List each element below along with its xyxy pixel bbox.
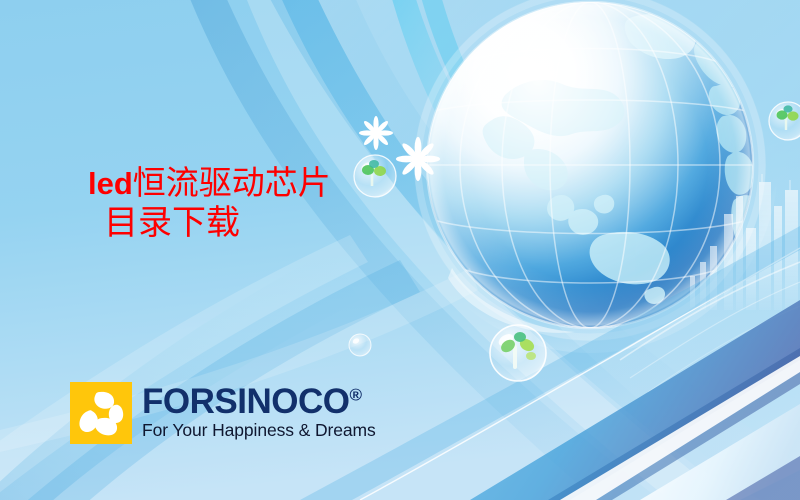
brand-tagline: For Your Happiness & Dreams: [142, 420, 376, 441]
brand-logo: FORSINOCO® For Your Happiness & Dreams: [70, 382, 376, 444]
wordmark-text: FORSINOCO: [142, 382, 349, 421]
small-bubble: [349, 334, 371, 356]
wordmark: FORSINOCO®: [142, 385, 376, 419]
bubble-with-green-globe-left: [354, 155, 396, 197]
headline-line-1: led恒流驱动芯片: [88, 164, 331, 203]
headline-line-2: 目录下载: [88, 203, 331, 243]
page-title: led恒流驱动芯片 目录下载: [88, 164, 331, 243]
headline-cjk-part: 恒流驱动芯片: [133, 163, 331, 202]
registered-trademark-icon: ®: [349, 386, 362, 405]
four-petal-pinwheel-icon: [70, 382, 132, 444]
headline-latin-prefix: led: [88, 166, 133, 201]
bubble-with-green-globe-right: [769, 102, 800, 140]
banner-image: led恒流驱动芯片 目录下载 FORSINOCO® For Your Happi…: [0, 0, 800, 500]
bubble-with-green-leaves: [490, 325, 546, 381]
